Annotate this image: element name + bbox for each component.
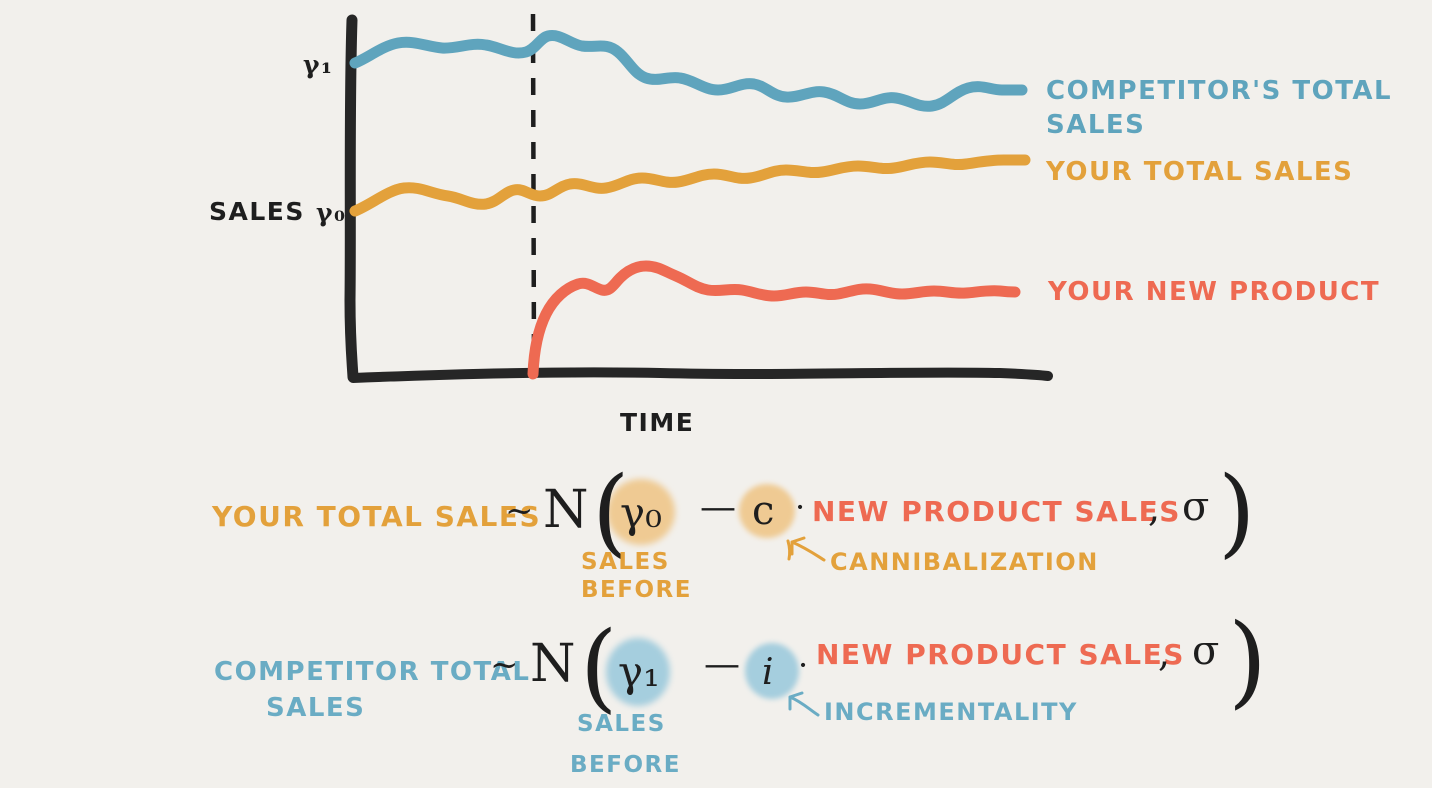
incrementality-annotation: INCREMENTALITY	[824, 698, 1078, 726]
equation2-term1-note-line2: BEFORE	[570, 752, 681, 778]
equation2-comma: ,	[1158, 631, 1170, 675]
equation2-minus: —	[704, 644, 740, 685]
equation2-lhs: COMPETITOR TOTAL	[214, 657, 530, 687]
equation2-term2: NEW PRODUCT SALES	[816, 638, 1185, 671]
incrementality-arrow	[790, 693, 818, 715]
equation2-dot-operator: ·	[798, 646, 808, 684]
equation2-coefficient-symbol: i	[762, 652, 774, 693]
equation2-term1-note-line1: SALES	[577, 711, 666, 737]
equation2-sigma: σ	[1192, 628, 1219, 674]
equation2-term1-symbol: γ₁	[618, 647, 660, 696]
equation2-tilde: ~	[490, 645, 519, 685]
equation2-close-paren: )	[1228, 602, 1267, 719]
equation2-lhs-line2: SALES	[266, 693, 365, 723]
equation2-distribution: N	[530, 634, 576, 694]
equation-competitor-total-sales: COMPETITOR TOTAL SALES ~ N ( γ₁ SALES BE…	[0, 0, 1432, 788]
whiteboard-canvas: SALES γ₁ γ₀ TIME COMPETITOR'S TOTAL SALE…	[0, 0, 1432, 788]
equation2-open-paren: (	[580, 611, 617, 723]
